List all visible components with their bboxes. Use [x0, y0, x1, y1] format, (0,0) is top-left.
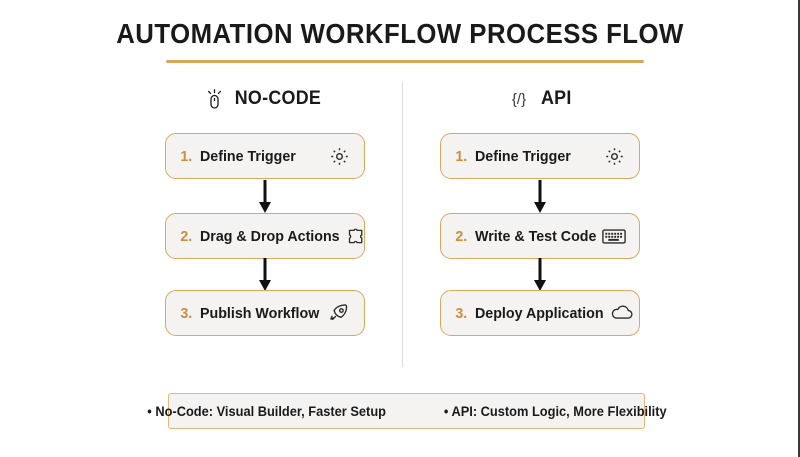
flow-arrow-api-2-to-3: [531, 258, 549, 294]
column-divider: [402, 82, 403, 367]
step-label: Define Trigger: [475, 148, 571, 165]
step-label: Define Trigger: [200, 148, 296, 165]
footer-item-no-code: • No-Code: Visual Builder, Faster Setup: [147, 404, 386, 419]
diagram-canvas: AUTOMATION WORKFLOW PROCESS FLOW NO-CODE…: [0, 0, 800, 457]
flow-arrow-api-1-to-2: [531, 180, 549, 216]
step-box-no-code-3[interactable]: 3. Publish Workflow: [165, 290, 365, 336]
step-number: 2.: [180, 228, 192, 245]
step-box-api-1[interactable]: 1. Define Trigger: [440, 133, 640, 179]
title-underline-rule: [166, 60, 644, 63]
rocket-icon: [328, 302, 350, 324]
title-block: AUTOMATION WORKFLOW PROCESS FLOW: [0, 18, 800, 50]
gear-icon: [329, 146, 350, 167]
step-number: 1.: [180, 148, 192, 165]
step-number: 2.: [455, 228, 467, 245]
footer-item-api: • API: Custom Logic, More Flexibility: [444, 404, 667, 419]
step-box-no-code-1[interactable]: 1. Define Trigger: [165, 133, 365, 179]
column-header-api: {/} API: [440, 86, 640, 112]
step-label: Publish Workflow: [200, 305, 319, 322]
flow-arrow-no-code-1-to-2: [256, 180, 274, 216]
step-label: Write & Test Code: [475, 228, 596, 245]
cloud-icon: [610, 304, 634, 322]
mouse-click-icon: [206, 89, 223, 110]
step-number: 1.: [455, 148, 467, 165]
step-box-api-3[interactable]: 3. Deploy Application: [440, 290, 640, 336]
step-box-no-code-2[interactable]: 2. Drag & Drop Actions: [165, 213, 365, 259]
step-number: 3.: [180, 305, 192, 322]
gear-icon: [604, 146, 625, 167]
column-header-label: API: [541, 88, 572, 110]
puzzle-piece-icon: [346, 226, 367, 247]
column-header-no-code: NO-CODE: [165, 86, 365, 112]
step-number: 3.: [455, 305, 467, 322]
footer-summary-bar: • No-Code: Visual Builder, Faster Setup …: [168, 393, 645, 429]
column-header-label: NO-CODE: [235, 88, 321, 110]
flow-arrow-no-code-2-to-3: [256, 258, 274, 294]
step-box-api-2[interactable]: 2. Write & Test Code: [440, 213, 640, 259]
code-brackets-icon: {/}: [507, 89, 531, 109]
step-label: Deploy Application: [475, 305, 604, 322]
step-label: Drag & Drop Actions: [200, 228, 340, 245]
keyboard-icon: [602, 228, 626, 245]
page-title: AUTOMATION WORKFLOW PROCESS FLOW: [32, 18, 768, 50]
svg-text:{/}: {/}: [512, 91, 526, 108]
